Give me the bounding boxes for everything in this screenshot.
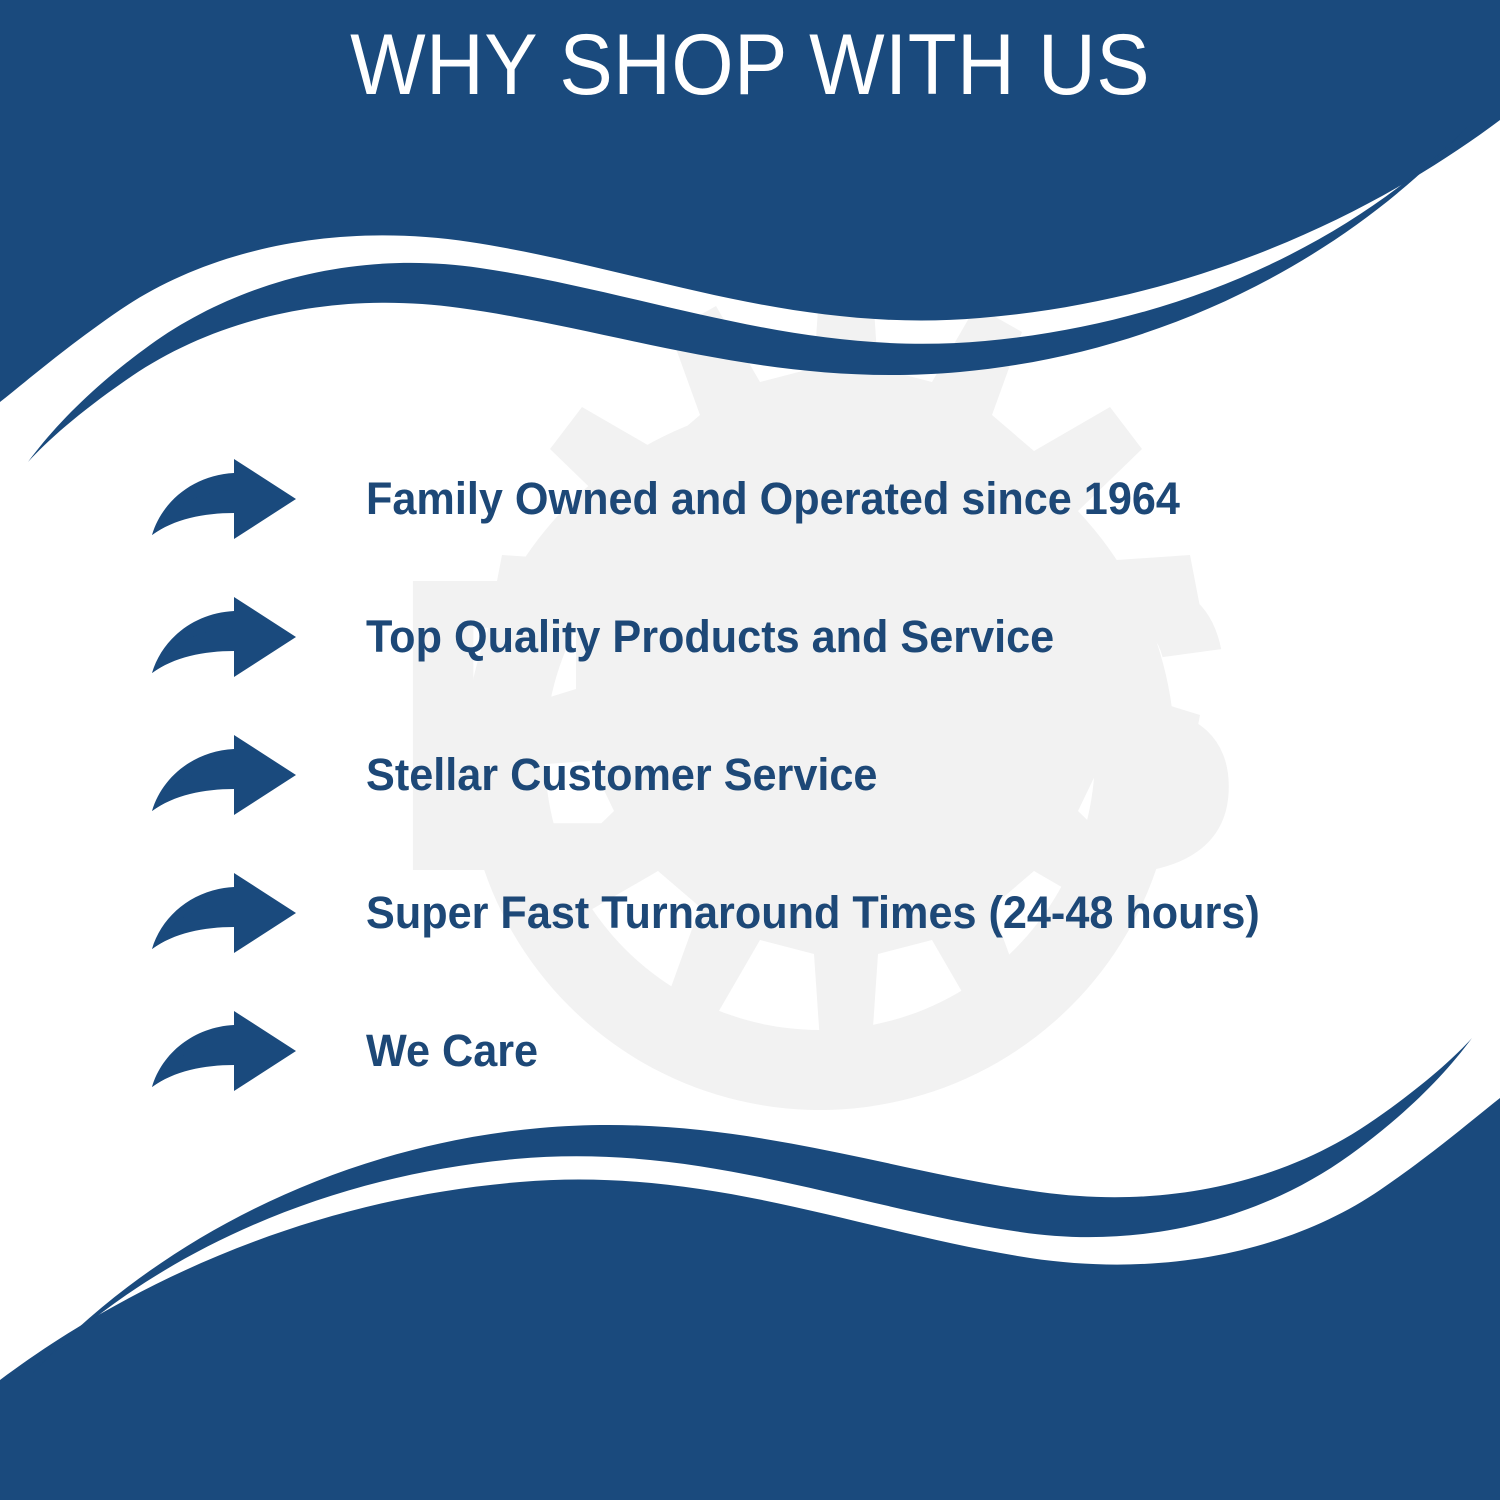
curved-arrow-right-icon [150,733,298,817]
list-item-label: Super Fast Turnaround Times (24-48 hours… [366,889,1260,936]
list-item: Super Fast Turnaround Times (24-48 hours… [0,844,1500,982]
page-title: WHY SHOP WITH US [350,22,1150,108]
list-item-label: Stellar Customer Service [366,751,877,798]
curved-arrow-right-icon [150,1009,298,1093]
curved-arrow-right-icon [150,457,298,541]
benefits-list: Family Owned and Operated since 1964 Top… [0,430,1500,1120]
list-item-label: Family Owned and Operated since 1964 [366,475,1180,522]
header-banner: WHY SHOP WITH US [0,0,1500,140]
list-item-label: We Care [366,1027,538,1074]
curved-arrow-right-icon [150,595,298,679]
list-item: Family Owned and Operated since 1964 [0,430,1500,568]
curved-arrow-right-icon [150,871,298,955]
list-item: Stellar Customer Service [0,706,1500,844]
list-item: We Care [0,982,1500,1120]
list-item-label: Top Quality Products and Service [366,613,1054,660]
promo-graphic: ESS WHY SHOP WITH US Family Owned and Op… [0,0,1500,1500]
list-item: Top Quality Products and Service [0,568,1500,706]
